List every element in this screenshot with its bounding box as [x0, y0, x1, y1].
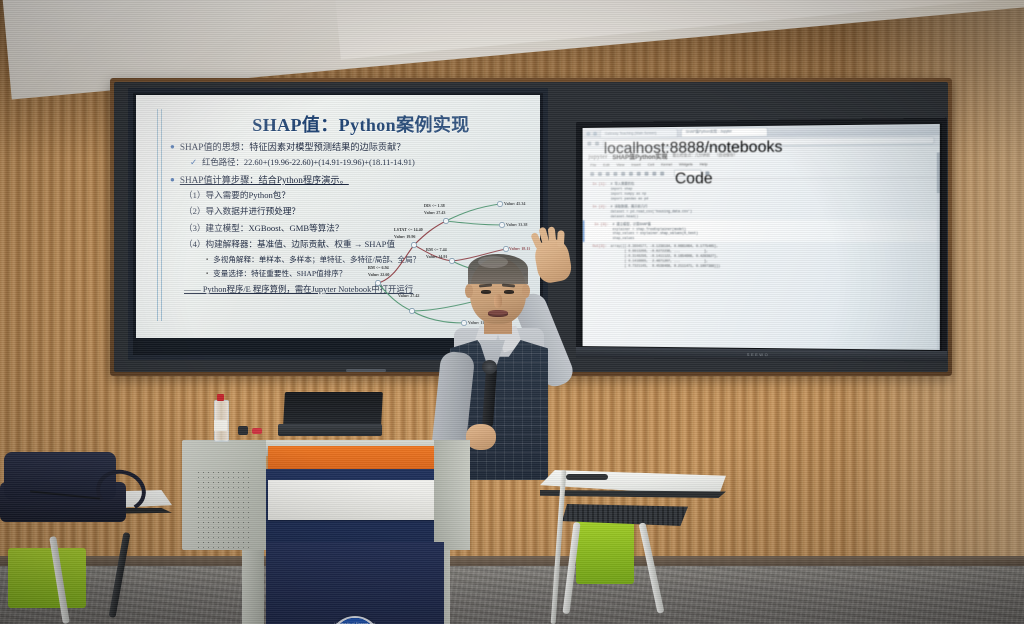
lectern-accent-panel: [268, 446, 440, 471]
desk-right-leg-front: [562, 522, 580, 614]
marker-red: [252, 428, 262, 434]
eye-left: [481, 290, 491, 294]
desk-right-leg-back: [639, 522, 665, 613]
university-seal: University of Finance and Economics: [329, 616, 381, 624]
microphone-head: [482, 360, 497, 374]
ear-right: [522, 284, 530, 298]
speaker-grille: [196, 470, 250, 548]
desk-left-leg-back: [109, 532, 131, 618]
water-bottle: [214, 392, 227, 440]
display-brand-label: SEEWO: [747, 352, 769, 357]
lectern-small-items: [238, 424, 282, 438]
finger: [557, 230, 565, 247]
laptop-keyboard: [278, 424, 382, 436]
teaching-lectern: University of Finance and Economics: [182, 424, 474, 624]
student-desk-right: [540, 470, 730, 620]
nose: [494, 294, 502, 308]
desk-left-leg-front: [49, 536, 70, 624]
jupyter-display-bezel: [576, 118, 947, 363]
hair-highlight: [478, 256, 508, 268]
lectern-side-right: [434, 440, 470, 550]
bottle-cap: [217, 394, 224, 401]
lectern-white-panel: [268, 480, 440, 520]
lectern-side-left: [182, 440, 266, 550]
screenshot-root: SEEWO SHAP值：Python案例实现 ● SHAP值的思想：特征因素对模…: [0, 0, 1024, 624]
ear-left: [465, 284, 473, 298]
desk-right-tray: [562, 504, 688, 526]
jupyter-display[interactable]: Gateway Teaching (Main Screen) SHAP值Pyth…: [576, 118, 947, 363]
desk-right-handle: [566, 474, 608, 480]
laptop: [278, 392, 382, 438]
laptop-screen: [283, 392, 383, 426]
lectern-leg-left: [242, 550, 264, 624]
board-sensor-bar: [346, 369, 386, 372]
marker-dark: [238, 426, 248, 435]
eye-right: [504, 290, 514, 294]
mouth: [488, 310, 508, 317]
lectern-drape: University of Finance and Economics: [266, 542, 444, 624]
bottle-label: [214, 420, 227, 431]
